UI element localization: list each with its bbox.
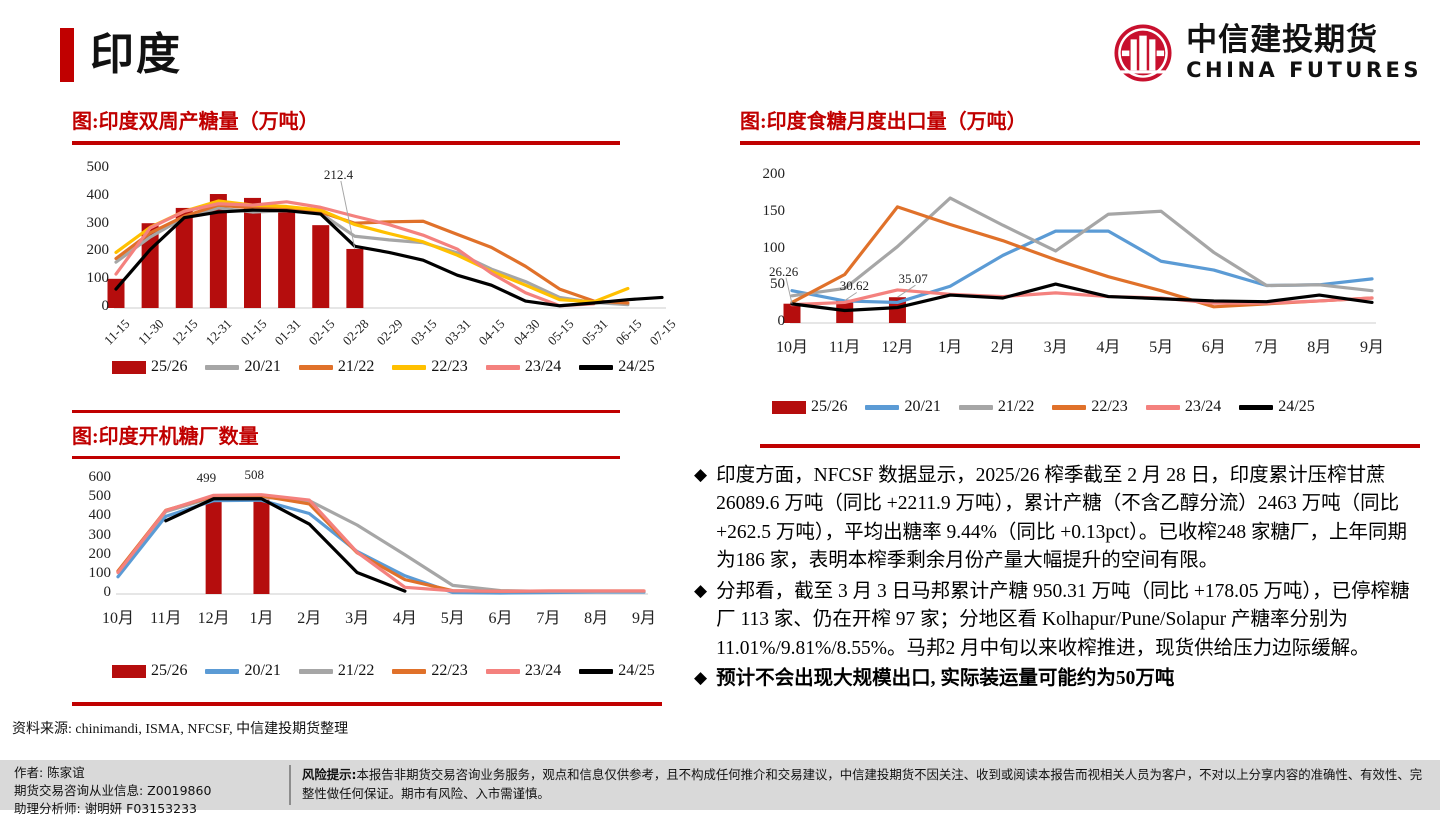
chart2-legend: 25/2620/2121/2222/2323/2424/25 [772,398,1315,416]
chart2-data-label: 35.07 [898,271,927,287]
chart2-xtick: 7月 [1255,333,1279,357]
page-title-block: 印度 [60,28,182,82]
chart3-xtick: 8月 [584,604,608,628]
legend-label: 21/22 [338,358,374,376]
legend-item-22-23[interactable]: 22/23 [392,358,467,376]
chart3-xtick: 7月 [536,604,560,628]
chart2-ytick: 0 [740,313,785,330]
legend-label: 25/26 [811,398,847,416]
chart2-xtick: 9月 [1360,333,1384,357]
legend-swatch-icon [299,669,333,674]
legend-swatch-icon [486,365,520,370]
legend-item-21-22[interactable]: 21/22 [299,662,374,680]
footer-author: 作者: 陈家谊 [14,764,211,782]
slide-root: 印度 中信建投期货 CHINA FUTURES 图:印度双周产糖量（万吨） 01… [0,0,1440,810]
chart3-bar [206,502,222,594]
chart3-ytick: 100 [72,565,111,582]
chart3-xtick: 11月 [150,604,181,628]
chart3-ytick: 400 [72,507,111,524]
legend-item-25-26[interactable]: 25/26 [112,662,187,680]
legend-label: 25/26 [151,662,187,680]
chart3-data-label: 499 [197,470,217,486]
legend-label: 22/23 [431,358,467,376]
chart3-header: 图:印度开机糖厂数量 [72,410,620,459]
chart3-line-21-22 [118,497,644,591]
bullet-item: ◆印度方面，NFCSF 数据显示，2025/26 榨季截至 2 月 28 日，印… [694,462,1424,576]
bullet-text: 分邦看，截至 3 月 3 日马邦累计产糖 950.31 万吨（同比 +178.0… [716,578,1424,663]
chart1-title: 图:印度双周产糖量（万吨） [72,105,620,134]
chart1-header: 图:印度双周产糖量（万吨） [72,105,620,145]
chart1-ytick: 200 [72,242,109,259]
legend-item-20-21[interactable]: 20/21 [205,662,280,680]
legend-swatch-icon [112,361,146,374]
chart1-bar [244,198,261,308]
chart3-ytick: 200 [72,546,111,563]
chart3-xtick: 6月 [489,604,513,628]
legend-item-22-23[interactable]: 22/23 [392,662,467,680]
legend-label: 24/25 [618,662,654,680]
page-title: 印度 [90,33,182,77]
chart3-xtick: 9月 [632,604,656,628]
chart1-rule [72,141,620,145]
chart3-xtick: 10月 [102,604,134,628]
chart1-bar [278,211,295,308]
legend-item-20-21[interactable]: 20/21 [205,358,280,376]
bullet-item: ◆预计不会出现大规模出口, 实际装运量可能约为50万吨 [694,665,1424,693]
footer-divider [289,765,291,805]
chart3-rule-top [72,410,620,413]
chart2-xtick: 10月 [776,333,808,357]
legend-swatch-icon [579,365,613,370]
chart1-ytick: 0 [72,298,109,315]
chart-india-operating-mills: 010020030040050060049950810月11月12月1月2月3月… [72,465,662,640]
chart2-data-label: 26.26 [769,264,798,280]
legend-swatch-icon [392,669,426,674]
legend-item-24-25[interactable]: 24/25 [579,358,654,376]
legend-label: 20/21 [244,662,280,680]
legend-swatch-icon [772,401,806,414]
legend-swatch-icon [1052,405,1086,410]
bullet-diamond-icon: ◆ [694,578,707,663]
footer-license: 期货交易咨询从业信息: Z0019860 [14,782,211,800]
legend-swatch-icon [1146,405,1180,410]
chart3-ytick: 0 [72,584,111,601]
footer-risk-label: 风险提示: [302,767,357,782]
footer-risk-block: 风险提示:本报告非期货交易咨询业务服务，观点和信息仅供参考，且不构成任何推介和交… [302,766,1430,803]
chart2-rule [740,141,1420,145]
footer-author-block: 作者: 陈家谊 期货交易咨询从业信息: Z0019860 助理分析师: 谢明妍 … [14,764,211,817]
chart2-xtick: 5月 [1149,333,1173,357]
legend-label: 24/25 [618,358,654,376]
legend-item-22-23[interactable]: 22/23 [1052,398,1127,416]
chart2-ytick: 100 [740,240,785,257]
chart3-xtick: 2月 [297,604,321,628]
bullet-text: 预计不会出现大规模出口, 实际装运量可能约为50万吨 [716,665,1174,693]
chart2-header: 图:印度食糖月度出口量（万吨） [740,105,1420,145]
chart1-ytick: 400 [72,187,109,204]
chart2-xtick: 3月 [1044,333,1068,357]
legend-item-20-21[interactable]: 20/21 [865,398,940,416]
chart2-ytick: 200 [740,166,785,183]
chart3-ytick: 500 [72,488,111,505]
chart3-line-22-23 [118,496,644,591]
legend-label: 20/21 [244,358,280,376]
legend-item-24-25[interactable]: 24/25 [579,662,654,680]
chart2-xtick: 8月 [1307,333,1331,357]
chart3-line-23-24 [118,495,644,592]
chart3-data-label: 508 [244,467,264,483]
legend-label: 24/25 [1278,398,1314,416]
bullet-text: 印度方面，NFCSF 数据显示，2025/26 榨季截至 2 月 28 日，印度… [716,462,1424,576]
legend-label: 21/22 [338,662,374,680]
chart2-xtick: 11月 [829,333,860,357]
legend-item-25-26[interactable]: 25/26 [112,358,187,376]
footer-risk-text: 本报告非期货交易咨询业务服务，观点和信息仅供参考，且不构成任何推介和交易建议，中… [302,767,1422,801]
legend-swatch-icon [112,665,146,678]
analysis-bullets: ◆印度方面，NFCSF 数据显示，2025/26 榨季截至 2 月 28 日，印… [694,462,1424,696]
citic-logo-icon [1112,22,1174,84]
legend-item-23-24[interactable]: 23/24 [486,358,561,376]
legend-label: 23/24 [525,662,561,680]
legend-label: 20/21 [904,398,940,416]
legend-swatch-icon [205,365,239,370]
legend-swatch-icon [959,405,993,410]
bullets-rule [760,444,1420,448]
chart3-rule-bottom [72,456,620,459]
chart2-ytick: 150 [740,203,785,220]
footer-assistant: 助理分析师: 谢明妍 F03153233 [14,800,211,817]
chart3-line-24-25 [166,499,405,591]
chart2-line-21-22 [792,198,1372,296]
chart3-xtick: 5月 [441,604,465,628]
chart3-ytick: 300 [72,527,111,544]
chart3-title: 图:印度开机糖厂数量 [72,420,620,449]
legend-item-21-22[interactable]: 21/22 [299,358,374,376]
chart1-ytick: 100 [72,270,109,287]
legend-label: 22/23 [431,662,467,680]
legend-label: 23/24 [1185,398,1221,416]
bullet-diamond-icon: ◆ [694,665,707,693]
chart-india-biweekly-sugar-output: 0100200300400500212.411-1511-3012-1512-3… [72,155,672,370]
title-accent-bar [60,28,74,82]
chart1-bar [312,225,329,308]
source-note: 资料来源: chinimandi, ISMA, NFCSF, 中信建投期货整理 [12,718,348,738]
chart3-xtick: 12月 [198,604,230,628]
chart-india-monthly-sugar-export: 05010015020026.2630.6235.0710月11月12月1月2月… [740,160,1400,375]
chart2-line-24-25 [792,284,1372,310]
chart2-xtick: 1月 [938,333,962,357]
legend-item-23-24[interactable]: 23/24 [486,662,561,680]
legend-label: 22/23 [1091,398,1127,416]
legend-swatch-icon [1239,405,1273,410]
chart2-data-label: 30.62 [840,278,869,294]
legend-swatch-icon [392,365,426,370]
legend-label: 21/22 [998,398,1034,416]
chart3-xtick: 4月 [393,604,417,628]
chart1-ytick: 300 [72,215,109,232]
logo-chinese-name: 中信建投期货 [1186,25,1422,56]
chart3-bar [253,500,269,594]
company-logo: 中信建投期货 CHINA FUTURES [1112,22,1422,84]
logo-text-block: 中信建投期货 CHINA FUTURES [1186,25,1422,81]
legend-swatch-icon [579,669,613,674]
chart2-bar [784,304,801,323]
chart3-line-20-21 [118,500,644,593]
chart3-xtick: 1月 [249,604,273,628]
legend-swatch-icon [205,669,239,674]
legend-label: 23/24 [525,358,561,376]
bullet-item: ◆分邦看，截至 3 月 3 日马邦累计产糖 950.31 万吨（同比 +178.… [694,578,1424,663]
chart3-ytick: 600 [72,469,111,486]
legend-swatch-icon [865,405,899,410]
legend-item-24-25[interactable]: 24/25 [1239,398,1314,416]
legend-item-25-26[interactable]: 25/26 [772,398,847,416]
chart2-xtick: 4月 [1096,333,1120,357]
source-rule [72,702,662,706]
bullet-diamond-icon: ◆ [694,462,707,576]
legend-item-21-22[interactable]: 21/22 [959,398,1034,416]
chart1-data-label: 212.4 [324,167,353,183]
chart2-xtick: 12月 [881,333,913,357]
chart3-legend: 25/2620/2121/2222/2323/2424/25 [112,662,655,680]
legend-item-23-24[interactable]: 23/24 [1146,398,1221,416]
chart1-ytick: 500 [72,159,109,176]
chart2-title: 图:印度食糖月度出口量（万吨） [740,105,1420,134]
legend-swatch-icon [299,365,333,370]
logo-english-name: CHINA FUTURES [1186,60,1422,81]
chart2-xtick: 6月 [1202,333,1226,357]
chart1-bar [346,249,363,308]
chart2-xtick: 2月 [991,333,1015,357]
legend-label: 25/26 [151,358,187,376]
chart3-xtick: 3月 [345,604,369,628]
chart1-legend: 25/2620/2121/2222/2323/2424/25 [112,358,655,376]
legend-swatch-icon [486,669,520,674]
